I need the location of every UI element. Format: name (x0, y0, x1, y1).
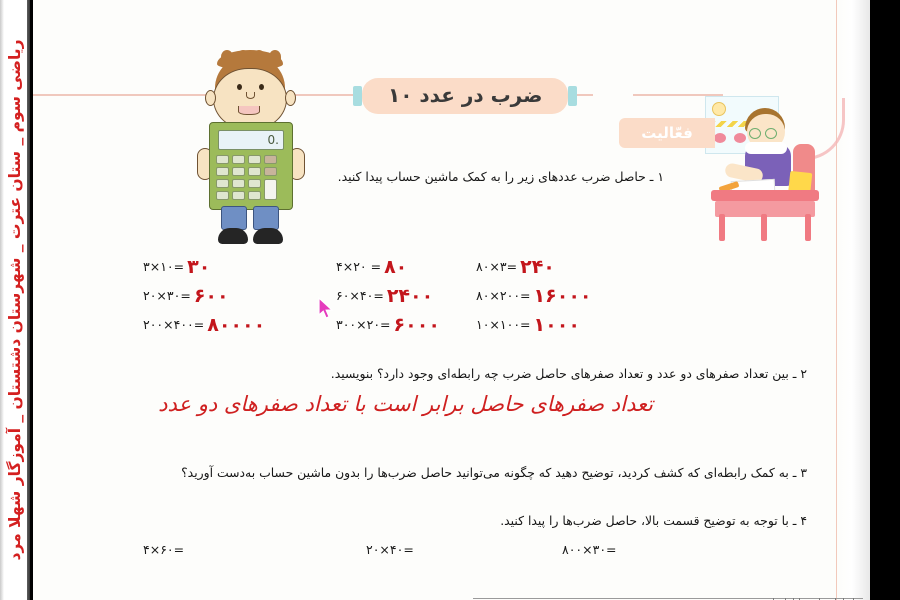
student-at-desk-illustration (705, 96, 845, 241)
title-cap-left-icon (353, 86, 362, 106)
question-1-text: ۱ ـ حاصل ضرب عددهای زیر را به کمک ماشین … (338, 168, 664, 186)
eq-r3-problem: ۱۰×۱۰۰= (476, 317, 531, 332)
screenshot-root: 0. (0, 0, 900, 600)
eq-m2-answer: ۲۴۰۰ (387, 285, 433, 307)
page-bottom-rule (473, 598, 863, 599)
watermark-ribbon: ریاضی سوم _ ستان عترت _ شهرستان دشتستان … (0, 0, 30, 600)
eq-l2-problem: ۲۰×۳۰= (143, 288, 191, 303)
eq-m1-problem: ۴×۲۰ = (336, 259, 381, 274)
eq-q4-left: ۴×۶۰= (143, 542, 184, 557)
eq-m3: ۳۰۰×۲۰=۶۰۰۰ (336, 314, 440, 336)
question-2-text: ۲ ـ بین تعداد صفرهای دو عدد و تعداد صفره… (331, 365, 807, 383)
eq-m2-problem: ۶۰×۴۰= (336, 288, 384, 303)
eq-q4-right: ۸۰۰×۳۰= (562, 542, 617, 557)
eq-r3-answer: ۱۰۰۰ (534, 314, 580, 336)
eq-q4-middle: ۲۰×۴۰= (366, 542, 414, 557)
eq-l2: ۲۰×۳۰=۶۰۰ (143, 285, 229, 307)
eq-m2: ۶۰×۴۰=۲۴۰۰ (336, 285, 433, 307)
eq-l2-answer: ۶۰۰ (194, 285, 229, 307)
eq-l1: ۳×۱۰=۳۰ (143, 256, 210, 278)
eq-l1-problem: ۳×۱۰= (143, 259, 184, 274)
watermark-text: ریاضی سوم _ ستان عترت _ شهرستان دشتستان … (6, 39, 24, 560)
eq-r1: ۸۰×۳=۲۴۰ (476, 256, 555, 278)
textbook-page: 0. (33, 0, 870, 600)
eq-l3-problem: ۲۰۰×۴۰۰= (143, 317, 204, 332)
calculator-boy-illustration: 0. (193, 56, 308, 252)
eq-m3-problem: ۳۰۰×۲۰= (336, 317, 391, 332)
eq-l3-answer: ۸۰۰۰۰ (207, 314, 265, 336)
eq-l3: ۲۰۰×۴۰۰=۸۰۰۰۰ (143, 314, 265, 336)
page-right-edge (840, 0, 870, 600)
page-title: ضرب در عدد ۱۰ (362, 78, 568, 114)
page-margin-line (836, 0, 837, 600)
eq-m3-answer: ۶۰۰۰ (394, 314, 440, 336)
eq-r1-answer: ۲۴۰ (520, 256, 555, 278)
eq-l1-answer: ۳۰ (187, 256, 210, 278)
question-4-text: ۴ ـ با توجه به توضیح قسمت بالا، حاصل ضرب… (500, 512, 807, 530)
title-cap-right-icon (568, 86, 577, 106)
calculator-device: 0. (209, 122, 293, 210)
question-3-text: ۳ ـ به کمک رابطه‌ای که کشف کردید، توضیح … (181, 464, 807, 482)
lesson-title-group: ضرب در عدد ۱۰ (353, 78, 577, 114)
eq-r2-problem: ۸۰×۲۰۰= (476, 288, 531, 303)
handwritten-answer-q2: تعداد صفرهای حاصل برابر است با تعداد صفر… (183, 392, 653, 416)
eq-m1: ۴×۲۰ =۸۰ (336, 256, 407, 278)
eq-r3: ۱۰×۱۰۰=۱۰۰۰ (476, 314, 580, 336)
eq-r1-problem: ۸۰×۳= (476, 259, 517, 274)
eq-r2-answer: ۱۶۰۰۰ (534, 285, 592, 307)
activity-badge: فعّالیت (619, 118, 715, 148)
eq-m1-answer: ۸۰ (384, 256, 407, 278)
eq-r2: ۸۰×۲۰۰=۱۶۰۰۰ (476, 285, 592, 307)
